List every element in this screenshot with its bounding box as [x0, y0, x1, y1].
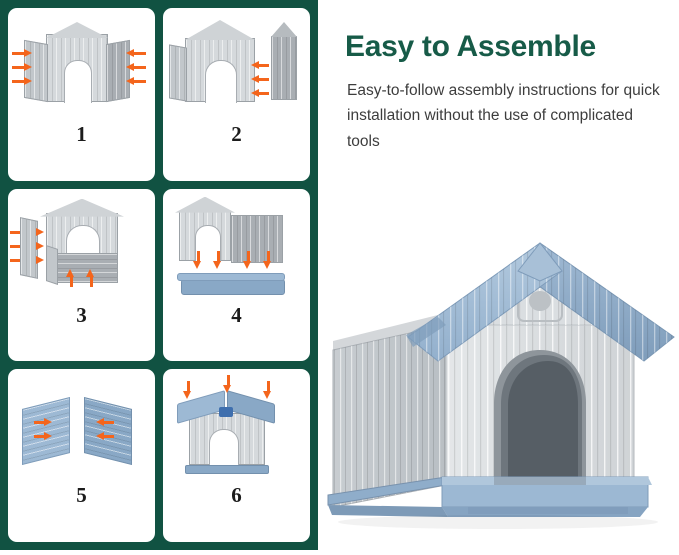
step-number-4: 4 — [231, 305, 242, 326]
step-card-5: 5 — [8, 369, 155, 542]
step-card-4: 4 — [163, 189, 310, 362]
step-1-illustration — [8, 8, 155, 126]
step-2-illustration — [163, 8, 310, 126]
assembled-dog-house — [318, 185, 679, 550]
step-4-illustration — [163, 189, 310, 307]
step-number-2: 2 — [231, 124, 242, 145]
step-card-1: 1 — [8, 8, 155, 181]
step-card-6: 6 — [163, 369, 310, 542]
step-card-2: 2 — [163, 8, 310, 181]
page-title: Easy to Assemble — [345, 30, 670, 65]
step-card-3: 3 — [8, 189, 155, 362]
step-number-5: 5 — [76, 485, 87, 506]
step-number-3: 3 — [76, 305, 87, 326]
assembly-steps-panel: 1 2 — [0, 0, 318, 550]
step-number-1: 1 — [76, 124, 87, 145]
dog-house-illustration — [318, 185, 679, 550]
step-6-illustration — [163, 369, 310, 487]
step-number-6: 6 — [231, 485, 242, 506]
description-text: Easy-to-follow assembly instructions for… — [347, 78, 662, 155]
step-3-illustration — [8, 189, 155, 307]
step-5-illustration — [8, 369, 155, 487]
